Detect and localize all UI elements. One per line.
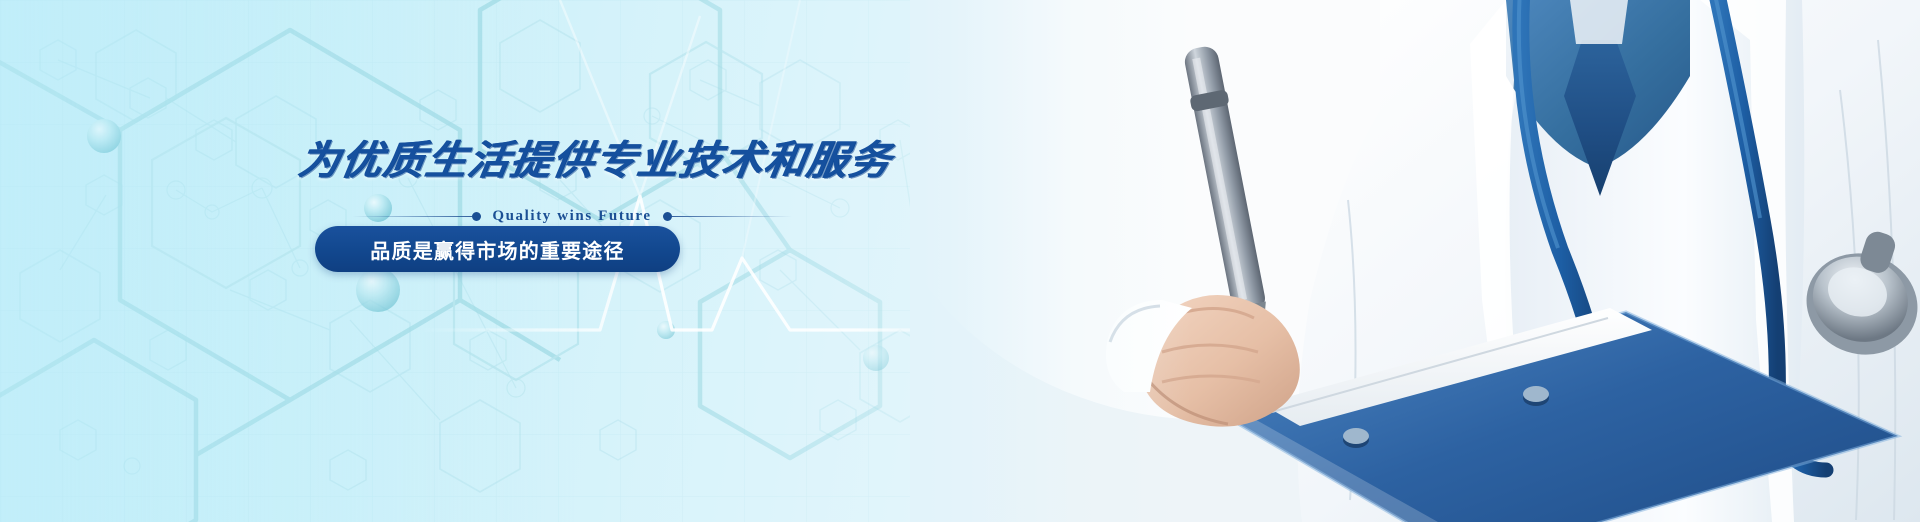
- slogan-pill-button[interactable]: 品质是赢得市场的重要途径: [315, 226, 680, 272]
- page-title: 为优质生活提供专业技术和服务: [295, 128, 897, 186]
- tagline-rule-right: [672, 216, 792, 217]
- tagline-english: Quality wins Future: [481, 208, 662, 225]
- tagline-dot-right: [663, 212, 672, 221]
- doctor-with-clipboard-photo: [910, 0, 1920, 522]
- tagline-rule-left: [352, 216, 472, 217]
- banner-text-block: 为优质生活提供专业技术和服务 Quality wins Future 品质是赢得…: [0, 0, 860, 522]
- hero-banner: 为优质生活提供专业技术和服务 Quality wins Future 品质是赢得…: [0, 0, 1920, 522]
- slogan-pill-label: 品质是赢得市场的重要途径: [370, 235, 624, 264]
- tagline-dot-left: [472, 212, 481, 221]
